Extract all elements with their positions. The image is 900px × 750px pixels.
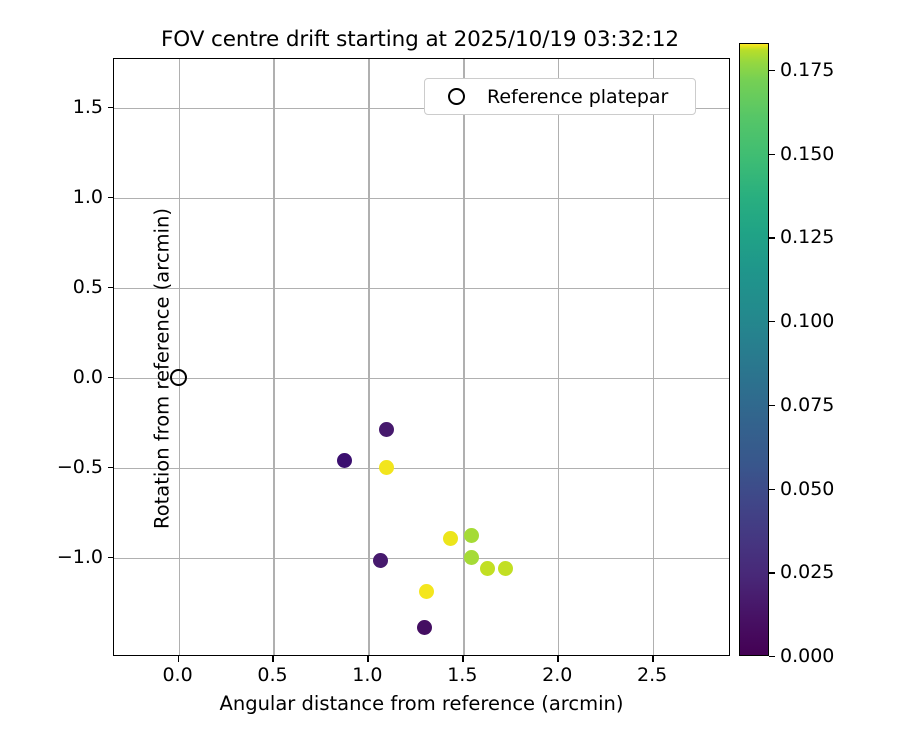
colorbar-tick-label: 0.100 bbox=[780, 310, 834, 332]
colorbar: 0.0000.0250.0500.0750.1000.1250.1500.175 bbox=[739, 43, 769, 656]
x-tick-mark bbox=[367, 656, 368, 662]
y-tick-mark bbox=[108, 467, 114, 468]
data-point bbox=[464, 528, 479, 543]
colorbar-tick-mark bbox=[769, 70, 775, 71]
colorbar-gradient bbox=[739, 43, 769, 656]
y-tick-label: 0.0 bbox=[73, 366, 103, 388]
x-gridline bbox=[179, 59, 180, 655]
x-gridline bbox=[368, 59, 369, 655]
y-tick-label: 1.5 bbox=[73, 96, 103, 118]
x-tick-mark bbox=[652, 656, 653, 662]
plot-axes bbox=[113, 58, 730, 656]
x-tick-label: 0.5 bbox=[237, 664, 307, 686]
y-gridline bbox=[114, 558, 729, 559]
x-gridline bbox=[273, 59, 274, 655]
y-tick-mark bbox=[108, 197, 114, 198]
x-tick-label: 1.0 bbox=[332, 664, 402, 686]
y-gridline bbox=[114, 198, 729, 199]
y-tick-label: 0.5 bbox=[73, 276, 103, 298]
x-gridline bbox=[558, 59, 559, 655]
x-tick-label: 2.0 bbox=[522, 664, 592, 686]
data-point bbox=[417, 620, 432, 635]
colorbar-tick-label: 0.025 bbox=[780, 561, 834, 583]
x-tick-mark bbox=[557, 656, 558, 662]
data-point bbox=[379, 422, 394, 437]
x-tick-mark bbox=[272, 656, 273, 662]
colorbar-tick-label: 0.125 bbox=[780, 226, 834, 248]
page-title: FOV centre drift starting at 2025/10/19 … bbox=[110, 27, 730, 52]
y-tick-mark bbox=[108, 107, 114, 108]
colorbar-tick-mark bbox=[769, 154, 775, 155]
y-gridline bbox=[114, 468, 729, 469]
y-axis-label: Rotation from reference (arcmin) bbox=[151, 69, 174, 669]
legend-entry-label: Reference platepar bbox=[487, 86, 668, 108]
x-tick-mark bbox=[178, 656, 179, 662]
data-point bbox=[498, 561, 513, 576]
colorbar-tick-mark bbox=[769, 656, 775, 657]
y-tick-label: 1.0 bbox=[73, 186, 103, 208]
data-point bbox=[419, 584, 434, 599]
x-gridline bbox=[463, 59, 464, 655]
x-tick-label: 2.5 bbox=[617, 664, 687, 686]
y-tick-label: −1.0 bbox=[57, 546, 103, 568]
x-tick-mark bbox=[462, 656, 463, 662]
x-axis-label: Angular distance from reference (arcmin) bbox=[113, 692, 730, 715]
y-tick-mark bbox=[108, 287, 114, 288]
colorbar-tick-label: 0.175 bbox=[780, 59, 834, 81]
colorbar-tick-mark bbox=[769, 572, 775, 573]
data-point bbox=[337, 453, 352, 468]
colorbar-tick-mark bbox=[769, 321, 775, 322]
colorbar-tick-mark bbox=[769, 237, 775, 238]
y-tick-label: −0.5 bbox=[57, 456, 103, 478]
legend-marker-wrap bbox=[425, 88, 487, 105]
y-gridline bbox=[114, 378, 729, 379]
colorbar-tick-label: 0.075 bbox=[780, 394, 834, 416]
data-point bbox=[379, 460, 394, 475]
y-tick-mark bbox=[108, 377, 114, 378]
data-point bbox=[480, 561, 495, 576]
matplotlib-figure: FOV centre drift starting at 2025/10/19 … bbox=[0, 0, 900, 750]
colorbar-tick-mark bbox=[769, 405, 775, 406]
x-tick-label: 1.5 bbox=[427, 664, 497, 686]
y-gridline bbox=[114, 288, 729, 289]
data-point bbox=[443, 531, 458, 546]
colorbar-tick-label: 0.150 bbox=[780, 143, 834, 165]
data-point bbox=[373, 553, 388, 568]
legend: Reference platepar bbox=[424, 78, 696, 115]
y-tick-mark bbox=[108, 557, 114, 558]
data-point bbox=[464, 550, 479, 565]
colorbar-tick-label: 0.000 bbox=[780, 645, 834, 667]
colorbar-tick-label: 0.050 bbox=[780, 478, 834, 500]
colorbar-tick-mark bbox=[769, 489, 775, 490]
x-gridline bbox=[653, 59, 654, 655]
x-tick-label: 0.0 bbox=[143, 664, 213, 686]
open-circle-icon bbox=[448, 88, 465, 105]
